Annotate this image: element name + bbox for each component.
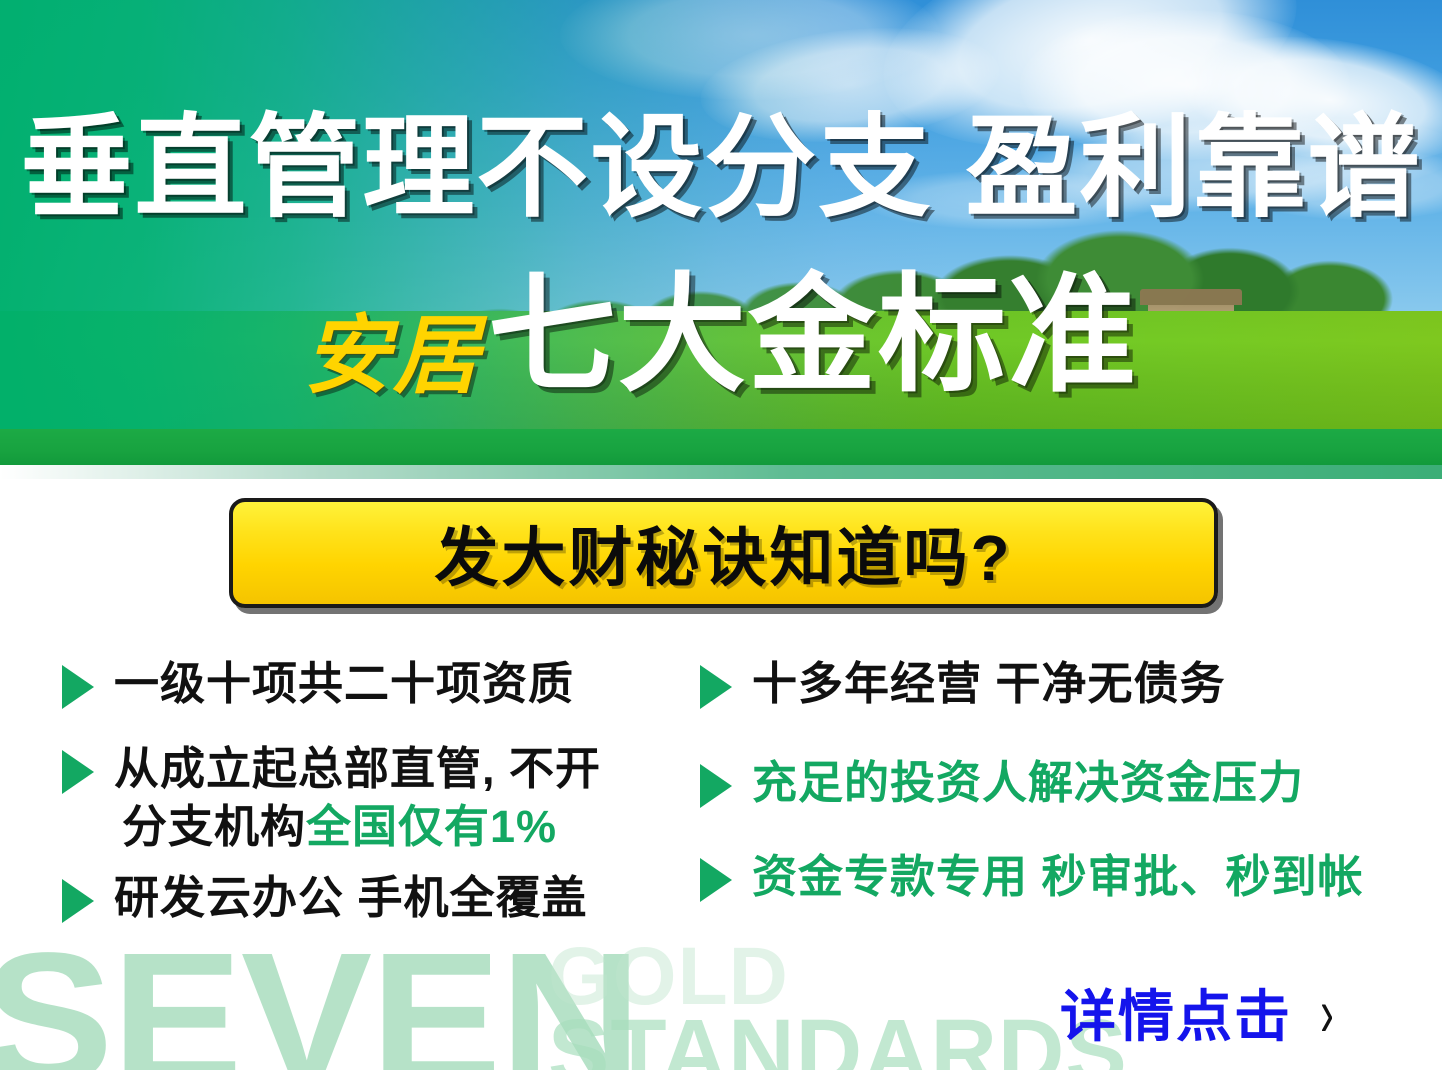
triangle-bullet-icon <box>62 750 94 794</box>
feature-text: 资金专款专用 秒审批、秒到帐 <box>752 848 1364 907</box>
yellow-banner-wrapper: 发大财秘诀知道吗? <box>229 498 1218 608</box>
details-cta-label: 详情点击 <box>1060 972 1292 1053</box>
feature-text-plain: 分支机构 <box>122 801 306 852</box>
feature-item: 一级十项共二十项资质 <box>62 655 702 714</box>
details-cta-button[interactable]: 详情点击 › <box>1060 972 1336 1053</box>
yellow-banner-text: 发大财秘诀知道吗? <box>434 507 1012 599</box>
hero-shadow-strip <box>0 465 1442 479</box>
hero-headline: 垂直管理不设分支 盈利靠谱 <box>0 112 1442 224</box>
yellow-question-banner[interactable]: 发大财秘诀知道吗? <box>229 498 1218 608</box>
feature-text: 从成立起总部直管, 不开 分支机构全国仅有1% <box>114 740 601 857</box>
hero-brand-word: 安居 <box>304 308 482 404</box>
feature-text: 研发云办公 手机全覆盖 <box>114 869 588 928</box>
triangle-bullet-icon <box>700 665 732 709</box>
watermark-standards: STANDARDS <box>548 1006 1128 1070</box>
feature-item: 资金专款专用 秒审批、秒到帐 <box>700 848 1420 907</box>
feature-text: 十多年经营 干净无债务 <box>752 655 1226 714</box>
hero-banner: 垂直管理不设分支 盈利靠谱 安居七大金标准 <box>0 0 1442 465</box>
feature-text: 充足的投资人解决资金压力 <box>752 754 1304 813</box>
triangle-bullet-icon <box>62 665 94 709</box>
feature-text: 一级十项共二十项资质 <box>114 655 574 714</box>
features-right-column: 十多年经营 干净无债务 充足的投资人解决资金压力 资金专款专用 秒审批、秒到帐 <box>700 655 1420 907</box>
triangle-bullet-icon <box>700 858 732 902</box>
hero-subheadline: 安居七大金标准 <box>0 272 1442 400</box>
feature-item: 研发云办公 手机全覆盖 <box>62 869 702 928</box>
triangle-bullet-icon <box>700 764 732 808</box>
features-section: 一级十项共二十项资质 从成立起总部直管, 不开 分支机构全国仅有1% 研发云办公… <box>0 655 1442 1015</box>
feature-item: 从成立起总部直管, 不开 分支机构全国仅有1% <box>62 740 702 857</box>
features-left-column: 一级十项共二十项资质 从成立起总部直管, 不开 分支机构全国仅有1% 研发云办公… <box>62 655 702 927</box>
feature-text-highlight: 全国仅有1% <box>306 801 557 852</box>
feature-item: 充足的投资人解决资金压力 <box>700 754 1420 813</box>
feature-text-line1: 从成立起总部直管, 不开 <box>114 743 601 794</box>
hero-subheadline-main: 七大金标准 <box>488 264 1138 407</box>
feature-text-line2: 分支机构全国仅有1% <box>114 798 601 857</box>
triangle-bullet-icon <box>62 879 94 923</box>
chevron-right-icon: › <box>1320 979 1333 1047</box>
feature-item: 十多年经营 干净无债务 <box>700 655 1420 714</box>
hero-bottom-green-bar <box>0 429 1442 465</box>
